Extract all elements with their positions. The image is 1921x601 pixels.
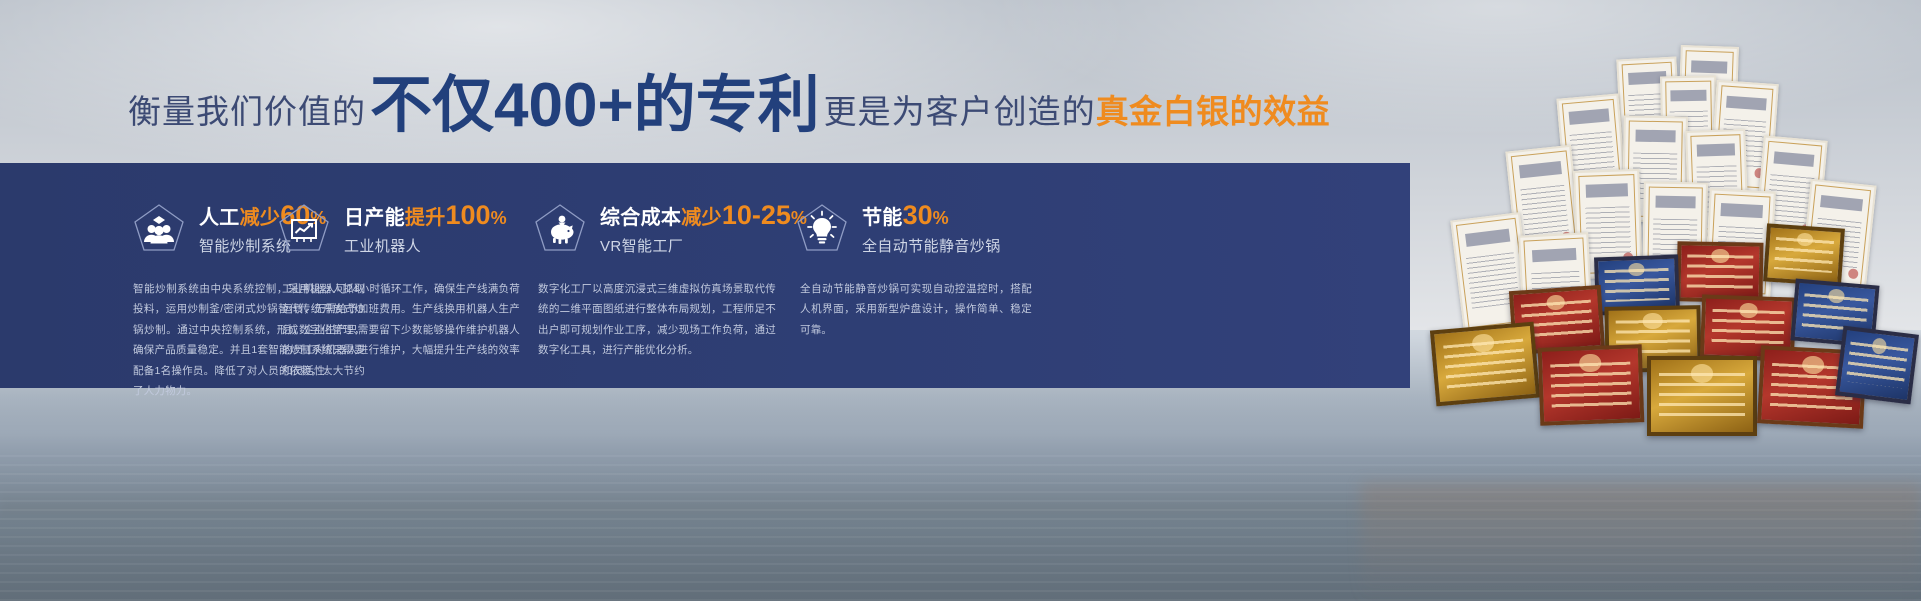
headline-accent: 真金白银的效益 xyxy=(1096,85,1331,133)
feature-item: 日产能提升100% 工业机器人 工业机器人可24小时循环工作，确保生产线满负荷运… xyxy=(268,163,526,388)
award-plaque xyxy=(1430,322,1540,407)
promo-banner: 衡量我们价值的 不仅400+的专利 更是为客户创造的 真金白银的效益 xyxy=(0,0,1921,601)
certificate-reflection xyxy=(1361,483,1921,601)
people-group-icon xyxy=(133,203,185,253)
feature-subtitle: 全自动节能静音炒锅 xyxy=(862,235,1001,256)
chart-monitor-icon xyxy=(278,203,330,253)
feature-titles: 日产能提升100% 工业机器人 xyxy=(344,201,507,256)
feature-item: 综合成本减少10-25% VR智能工厂 数字化工厂以高度沉浸式三维虚拟仿真场景取… xyxy=(526,163,788,388)
feature-title: 综合成本减少10-25% xyxy=(600,201,807,231)
lightbulb-icon xyxy=(796,203,848,253)
feature-header: 综合成本减少10-25% VR智能工厂 xyxy=(534,201,788,256)
award-plaque xyxy=(1676,241,1763,302)
award-plaque xyxy=(1538,344,1645,426)
feature-title: 日产能提升100% xyxy=(344,201,507,231)
award-plaque xyxy=(1647,356,1757,436)
feature-item: 人工减少60% 智能炒制系统 智能炒制系统由中央系统控制，采用机器人抓取投料，运… xyxy=(0,163,268,388)
headline-emphasis: 不仅400+的专利 xyxy=(370,75,820,137)
page-title: 衡量我们价值的 不仅400+的专利 更是为客户创造的 真金白银的效益 xyxy=(128,72,1330,134)
feature-title: 节能30% xyxy=(862,201,1001,231)
certificate-pile xyxy=(1361,20,1921,490)
feature-header: 日产能提升100% 工业机器人 xyxy=(278,201,526,256)
feature-description: 全自动节能静音炒锅可实现自动控温控时，搭配人机界面，采用新型炉盘设计，操作简单、… xyxy=(800,279,1032,340)
feature-panel: 人工减少60% 智能炒制系统 智能炒制系统由中央系统控制，采用机器人抓取投料，运… xyxy=(0,163,1410,388)
feature-titles: 节能30% 全自动节能静音炒锅 xyxy=(862,201,1001,256)
feature-item: 节能30% 全自动节能静音炒锅 全自动节能静音炒锅可实现自动控温控时，搭配人机界… xyxy=(788,163,1088,388)
piggy-bank-icon xyxy=(534,203,586,253)
feature-header: 人工减少60% 智能炒制系统 xyxy=(133,201,268,256)
headline-middle: 更是为客户创造的 xyxy=(824,85,1096,133)
award-plaque xyxy=(1835,326,1919,405)
feature-description: 工业机器人可24小时循环工作，确保生产线满负荷运转，无需给予加班费用。生产线换用… xyxy=(282,279,520,381)
award-plaque xyxy=(1763,223,1845,286)
feature-description: 数字化工厂以高度沉浸式三维虚拟仿真场景取代传统的二维平面图纸进行整体布局规划，工… xyxy=(538,279,776,361)
headline-lead: 衡量我们价值的 xyxy=(128,85,366,133)
feature-subtitle: VR智能工厂 xyxy=(600,235,807,256)
feature-header: 节能30% 全自动节能静音炒锅 xyxy=(796,201,1088,256)
feature-subtitle: 工业机器人 xyxy=(344,235,507,256)
feature-titles: 综合成本减少10-25% VR智能工厂 xyxy=(600,201,807,256)
feature-list: 人工减少60% 智能炒制系统 智能炒制系统由中央系统控制，采用机器人抓取投料，运… xyxy=(0,163,1410,388)
